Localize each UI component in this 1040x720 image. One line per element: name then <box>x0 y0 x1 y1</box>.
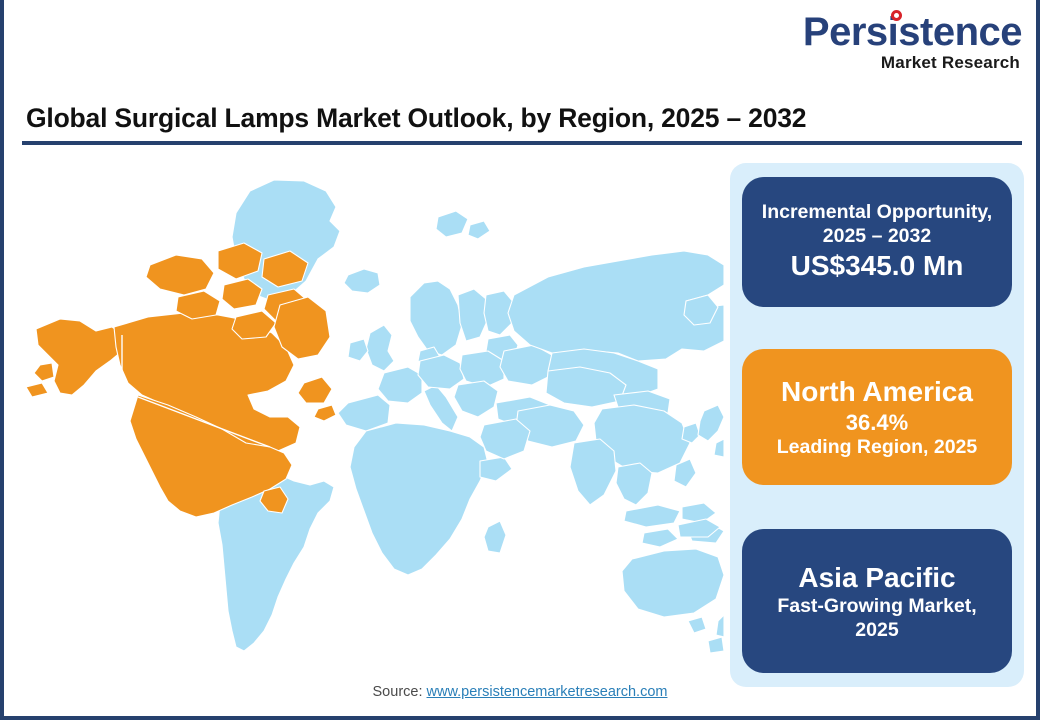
company-logo: Persistence Market Research <box>786 12 1022 71</box>
stats-panel: Incremental Opportunity, 2025 – 2032 US$… <box>730 163 1024 687</box>
card-leading-region-name: North America <box>781 374 973 409</box>
source-footer: Source: www.persistencemarketresearch.co… <box>4 684 1036 700</box>
card-leading-region-caption: Leading Region, 2025 <box>777 436 977 460</box>
card-incremental-value: US$345.0 Mn <box>791 248 964 283</box>
card-incremental-label-line2: 2025 – 2032 <box>823 225 931 249</box>
world-map <box>18 155 724 675</box>
red-circle-dot-icon <box>891 10 902 21</box>
card-incremental-label-line1: Incremental Opportunity, <box>762 201 992 225</box>
card-leading-region[interactable]: North America 36.4% Leading Region, 2025 <box>742 349 1012 485</box>
card-fast-growing-region-name: Asia Pacific <box>798 560 955 595</box>
infographic-slide: Persistence Market Research Global Surgi… <box>0 0 1040 720</box>
card-leading-region-share: 36.4% <box>846 409 908 437</box>
logo-tagline: Market Research <box>786 54 1022 71</box>
source-link[interactable]: www.persistencemarketresearch.com <box>427 684 668 700</box>
card-fast-growing-market[interactable]: Asia Pacific Fast-Growing Market, 2025 <box>742 529 1012 673</box>
map-region-north-america <box>26 243 336 517</box>
card-fast-growing-year: 2025 <box>855 619 898 643</box>
page-title: Global Surgical Lamps Market Outlook, by… <box>26 103 806 134</box>
logo-wordmark: Persistence <box>803 12 1022 52</box>
logo-wordmark-text: Persistence <box>803 10 1022 54</box>
world-map-svg <box>18 155 724 675</box>
card-incremental-opportunity[interactable]: Incremental Opportunity, 2025 – 2032 US$… <box>742 177 1012 307</box>
title-divider <box>22 141 1022 145</box>
source-label: Source: <box>373 684 427 700</box>
card-fast-growing-caption: Fast-Growing Market, <box>777 595 976 619</box>
